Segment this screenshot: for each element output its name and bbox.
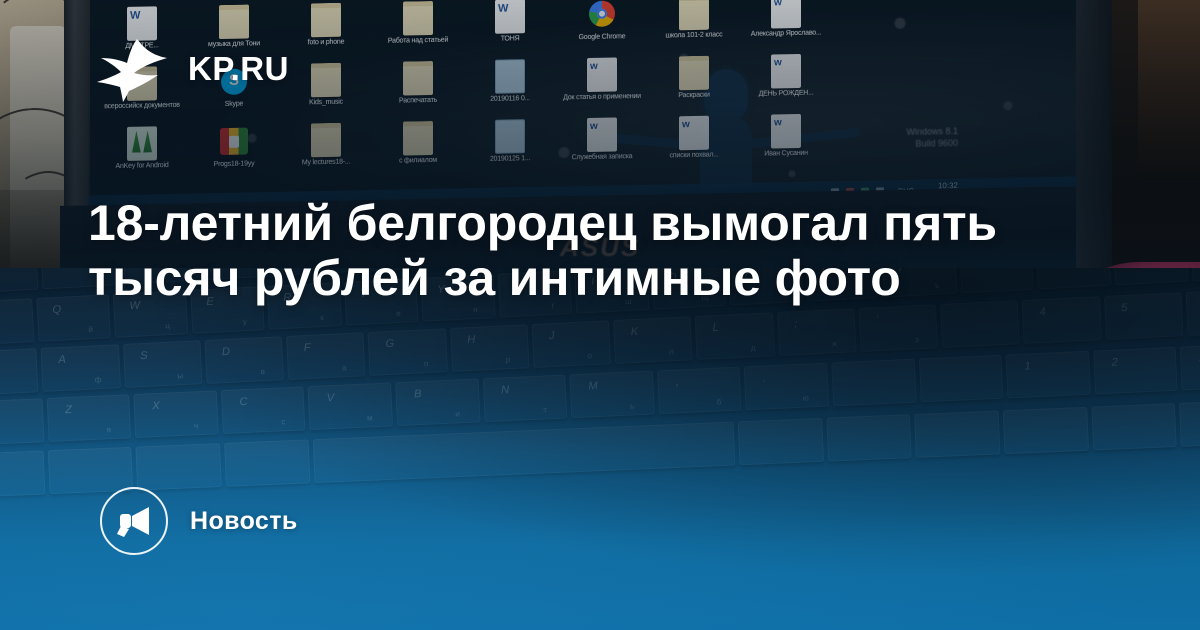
badge-circle: [100, 487, 168, 555]
brand-logo[interactable]: KP.RU: [96, 36, 289, 102]
social-share-card: ДМИТРЕ... музыка для Тони foto и phone Р…: [0, 0, 1200, 630]
swallow-bird-icon: [96, 36, 170, 102]
megaphone-icon: [116, 505, 152, 537]
badge-label: Новость: [190, 507, 298, 536]
brand-wordmark: KP.RU: [188, 50, 289, 88]
status-badge[interactable]: Новость: [100, 487, 298, 555]
content-overlay: KP.RU 18-летний белгородец вымогал пять …: [0, 0, 1200, 630]
page-title: 18-летний белгородец вымогал пять тысяч …: [88, 196, 1028, 306]
